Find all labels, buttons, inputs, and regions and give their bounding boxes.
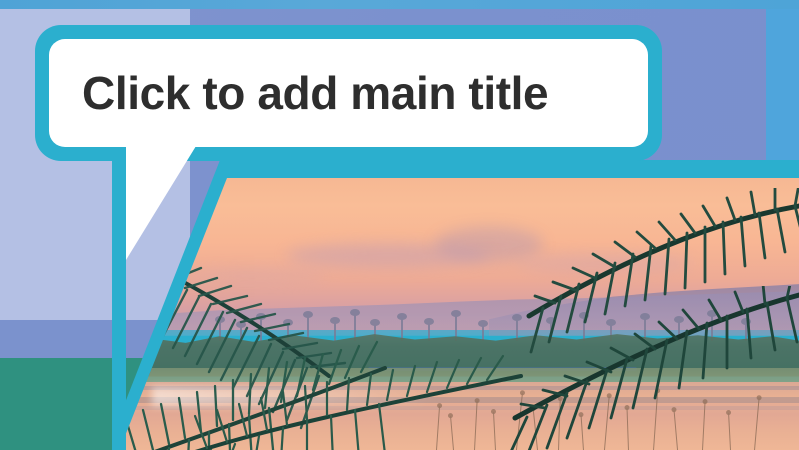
sunset-lake-photo (125, 178, 799, 450)
speech-bubble-tail-stroke (112, 140, 126, 450)
photo-image-clip (125, 178, 799, 450)
palm-frond-bottom-center (185, 350, 525, 450)
slide-canvas: Click to add main title (0, 0, 799, 450)
page-title[interactable]: Click to add main title (82, 70, 548, 116)
top-accent-strip (0, 0, 799, 9)
title-placeholder-box[interactable]: Click to add main title (49, 39, 648, 147)
palm-frond-right-lower (505, 286, 799, 450)
photo-panel[interactable] (112, 160, 799, 450)
